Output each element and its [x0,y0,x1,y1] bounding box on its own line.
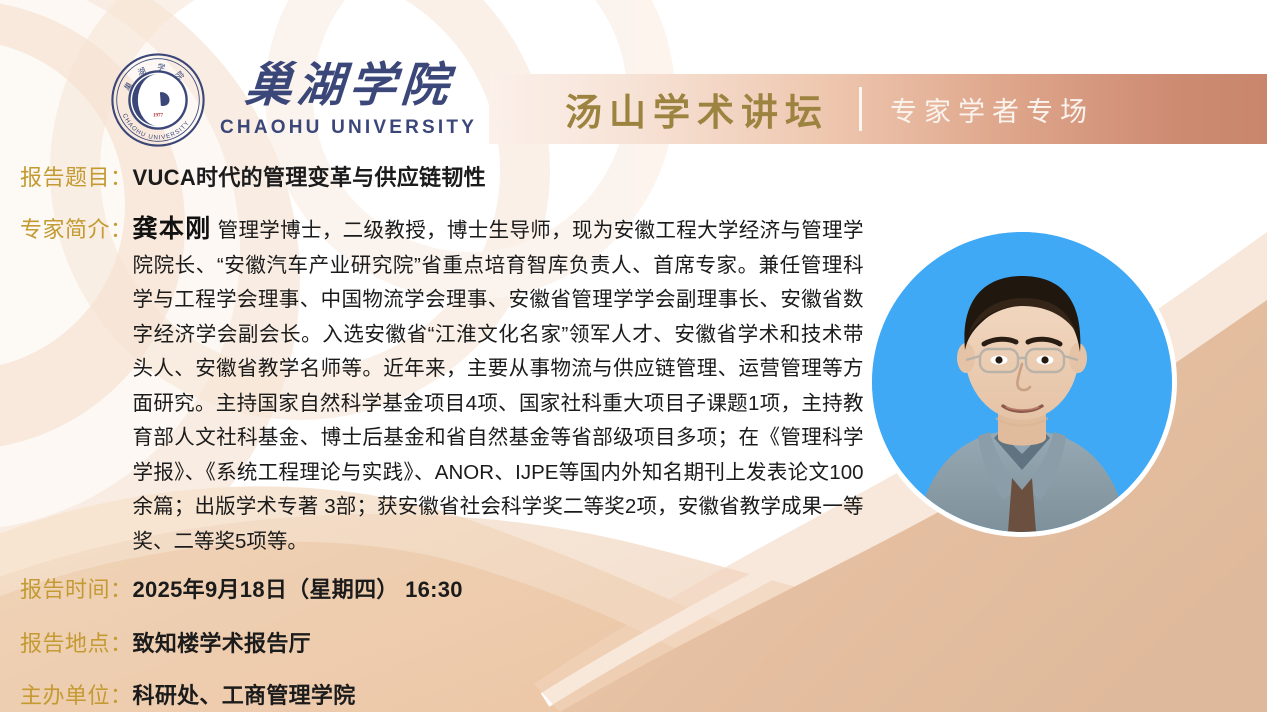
bio-text: 管理学博士，二级教授，博士生导师，现为安徽工程大学经济与管理学院院长、“安徽汽车… [133,219,864,553]
label-host: 主办单位： [20,678,133,710]
row-time: 报告时间： 2025年9月18日（星期四） 16:30 [20,572,463,604]
bio-paragraph: 龚本刚 管理学博士，二级教授，博士生导师，现为安徽工程大学经济与管理学院院长、“… [133,212,864,559]
label-time: 报告时间： [20,572,133,604]
row-topic: 报告题目： VUCA时代的管理变革与供应链韧性 [20,160,486,192]
label-bio: 专家简介： [20,212,133,244]
label-place: 报告地点： [20,626,133,658]
value-time: 2025年9月18日（星期四） 16:30 [133,572,463,604]
row-place: 报告地点： 致知楼学术报告厅 [20,626,311,658]
value-place: 致知楼学术报告厅 [133,626,311,658]
speaker-portrait [872,232,1172,532]
label-topic: 报告题目： [20,160,133,192]
row-host: 主办单位： 科研处、工商管理学院 [20,678,356,710]
row-bio: 专家简介： 龚本刚 管理学博士，二级教授，博士生导师，现为安徽工程大学经济与管理… [20,212,900,559]
speaker-name: 龚本刚 [133,215,212,243]
value-topic: VUCA时代的管理变革与供应链韧性 [133,160,486,192]
value-host: 科研处、工商管理学院 [133,678,356,710]
poster-root: 1977 巢湖学院 CHAOHU UNIVERSITY 巢湖学院 CHAOHU … [0,0,1267,712]
